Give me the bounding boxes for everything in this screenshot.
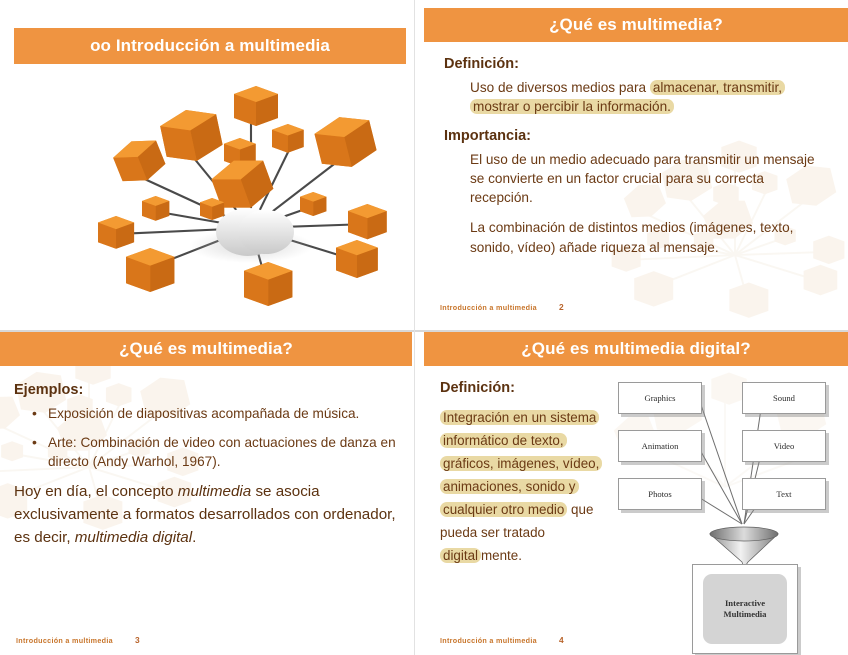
slide-4-page-number: 4 [559,635,564,645]
diagram-output-inner: Interactive Multimedia [703,574,787,644]
slide-2-title: ¿Qué es multimedia? [549,15,723,35]
slide-4-title-bar: ¿Qué es multimedia digital? [424,332,848,366]
closing-emphasis-2: multimedia digital [75,529,192,546]
definicion4-run-plain-2: mente. [481,548,522,563]
list-item: Exposición de diapositivas acompañada de… [14,404,404,424]
slide-2-page-number: 2 [559,302,564,312]
closing-emphasis-1: multimedia [178,483,251,500]
slide-3-title: ¿Qué es multimedia? [119,339,293,359]
closing-part-3: . [192,529,196,546]
diagram-box-video: Video [742,430,826,462]
slide-4-footer: Introducción a multimedia 4 [440,635,564,645]
definicion-text: Uso de diversos medios para almacenar, t… [470,78,830,117]
multimedia-funnel-diagram: Graphics Sound Animation Video Photos Te… [616,368,848,655]
slide-2-footer-label: Introducción a multimedia [440,303,537,312]
slide-2-body: Definición: Uso de diversos medios para … [444,56,830,268]
diagram-box-animation: Animation [618,430,702,462]
cube-network-svg [96,76,406,308]
funnel-icon [708,526,780,568]
slide-2-title-bar: ¿Qué es multimedia? [424,8,848,42]
slide-4-body: Definición: Integración en un sistema in… [440,380,610,578]
diagram-box-animation-label: Animation [642,441,679,451]
importancia-text-2: La combinación de distintos medios (imág… [470,218,830,257]
definicion-run-plain: Uso de diversos medios para [470,80,650,95]
slide-3-footer: Introducción a multimedia 3 [16,635,140,645]
ejemplos-heading: Ejemplos: [14,382,404,398]
definicion-heading-4: Definición: [440,380,610,396]
slide-3-title-bar: ¿Qué es multimedia? [0,332,412,366]
diagram-box-text: Text [742,478,826,510]
slide-deck: oo Introducción a multimedia [0,0,848,655]
definicion4-run-hl-2: digital [440,548,481,563]
slide-1-title: oo Introducción a multimedia [90,36,330,56]
slide-3-footer-label: Introducción a multimedia [16,636,113,645]
diagram-box-text-label: Text [776,489,791,499]
slide-1[interactable]: oo Introducción a multimedia [0,0,412,322]
diagram-output-box: Interactive Multimedia [692,564,798,654]
slide-3[interactable]: ¿Qué es multimedia? Ejemplos: Exposición… [0,332,412,655]
slide-4-title: ¿Qué es multimedia digital? [521,339,750,359]
diagram-box-video-label: Video [774,441,795,451]
slide-1-title-bar: oo Introducción a multimedia [14,28,406,64]
slide-3-closing-paragraph: Hoy en día, el concepto multimedia se as… [14,481,404,549]
vertical-divider [414,0,415,655]
slide-2-footer: Introducción a multimedia 2 [440,302,564,312]
diagram-box-graphics: Graphics [618,382,702,414]
slide-3-body: Ejemplos: Exposición de diapositivas aco… [14,382,404,550]
diagram-box-sound: Sound [742,382,826,414]
diagram-box-graphics-label: Graphics [644,393,675,403]
definicion-text-4: Integración en un sistema informático de… [440,406,610,567]
cube-network-graphic [96,76,406,308]
ejemplos-list: Exposición de diapositivas acompañada de… [14,404,404,472]
diagram-box-photos-label: Photos [648,489,671,499]
list-item: Arte: Combinación de video con actuacion… [14,433,404,472]
slide-4-footer-label: Introducción a multimedia [440,636,537,645]
diagram-box-sound-label: Sound [773,393,795,403]
diagram-box-photos: Photos [618,478,702,510]
slide-4[interactable]: ¿Qué es multimedia digital? Definición: … [424,332,848,655]
cube-group [98,86,387,306]
importancia-heading: Importancia: [444,128,830,144]
importancia-text-1: El uso de un medio adecuado para transmi… [470,150,830,208]
slide-2[interactable]: ¿Qué es multimedia? Definición: Uso de d… [424,0,848,322]
slide-3-page-number: 3 [135,635,140,645]
definicion-heading: Definición: [444,56,830,72]
closing-part-1: Hoy en día, el concepto [14,483,178,500]
diagram-output-line-2: Multimedia [724,609,767,620]
diagram-output-line-1: Interactive [725,598,765,609]
